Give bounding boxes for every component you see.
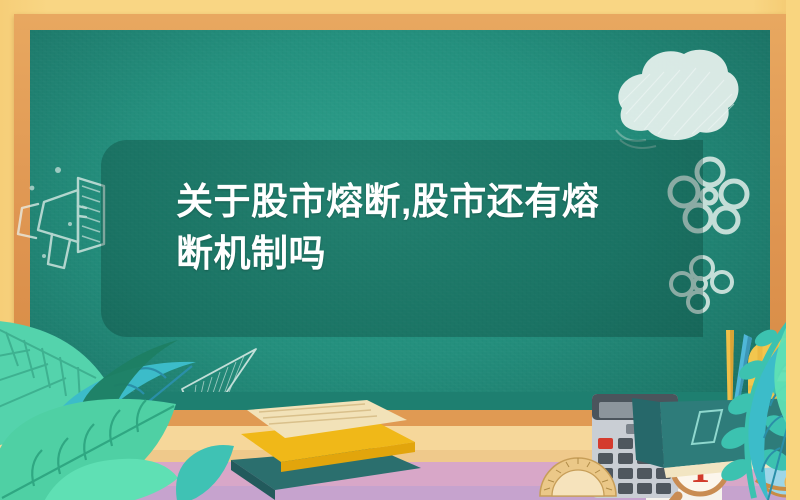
- stacked-books: [225, 398, 425, 500]
- cover-image: 关于股市熔断,股市还有熔 断机制吗: [0, 0, 800, 500]
- protractor: [538, 438, 618, 500]
- title-line-1: 关于股市熔断,股市还有熔: [176, 176, 696, 228]
- page-title: 关于股市熔断,股市还有熔 断机制吗: [176, 176, 696, 280]
- leaf-small-mint-left: [40, 454, 180, 500]
- title-line-2: 断机制吗: [176, 228, 696, 280]
- leaf-sprig-bottom: [172, 440, 242, 500]
- page-right-margin: [786, 0, 800, 500]
